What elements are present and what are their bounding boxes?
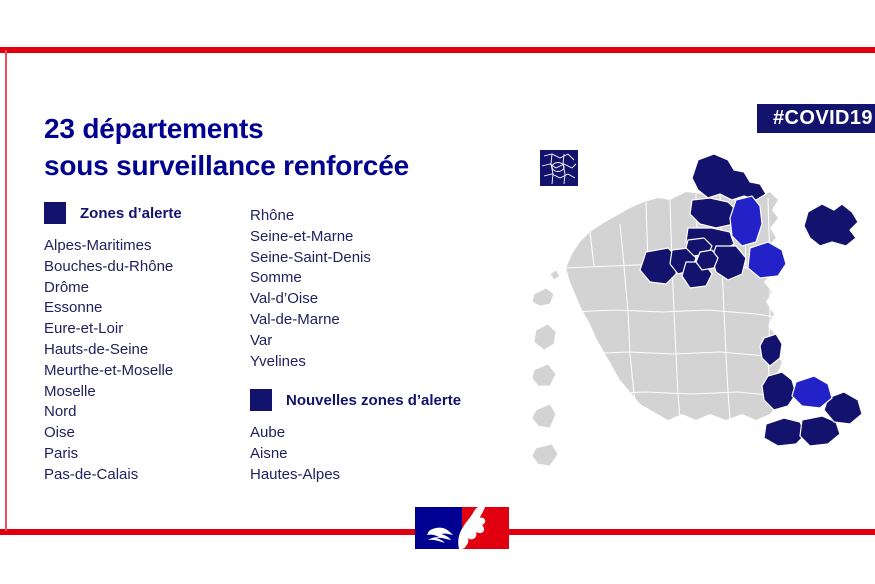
department-name: Var [250,331,371,352]
department-name: Drôme [44,278,173,299]
new-alert-swatch-icon [250,389,272,411]
department-name: Val-de-Marne [250,310,371,331]
covid19-hashtag-badge: #COVID19 [757,104,875,133]
alert-departments-column-1: Alpes-MaritimesBouches-du-RhôneDrômeEsso… [44,236,173,486]
infographic-canvas: #COVID19 23 départements sous surveillan… [0,0,875,584]
department-name: Eure-et-Loir [44,319,173,340]
legend-new-alert-label: Nouvelles zones d’alerte [286,392,461,409]
department-name: Essonne [44,298,173,319]
page-title: 23 départements sous surveillance renfor… [44,110,514,184]
legend-alert-label: Zones d’alerte [80,205,182,222]
dept-aube [748,242,786,278]
covid19-badge-label: #COVID19 [773,107,873,130]
top-red-rule [0,47,875,53]
department-name: Nord [44,402,173,423]
department-name: Oise [44,423,173,444]
page-title-line1: 23 départements [44,113,264,144]
new-alert-departments-list: AubeAisneHautes-Alpes [250,423,340,485]
dept-petite-couronne [696,250,718,270]
department-name: Val-d’Oise [250,289,371,310]
legend-alert-zones: Zones d’alerte [44,202,182,224]
page-title-line2: sous surveillance renforcée [44,147,514,184]
department-name: Rhône [250,206,371,227]
france-departments-map [520,142,875,480]
dept-moselle-meurthe [804,204,858,246]
marianne-french-republic-logo [415,507,509,549]
department-name: Alpes-Maritimes [44,236,173,257]
alert-departments-column-2: RhôneSeine-et-MarneSeine-Saint-DenisSomm… [250,206,371,372]
department-name: Hauts-de-Seine [44,340,173,361]
map-overseas-territories [532,270,560,466]
paris-region-inset [540,150,578,186]
department-name: Aube [250,423,340,444]
department-name: Seine-et-Marne [250,227,371,248]
department-name: Meurthe-et-Moselle [44,361,173,382]
dept-bouches-du-rhone [764,418,806,446]
department-name: Moselle [44,382,173,403]
department-name: Aisne [250,444,340,465]
left-red-rule [5,50,7,531]
dept-aisne [730,196,762,246]
department-name: Hautes-Alpes [250,465,340,486]
dept-hautes-alpes [792,376,832,408]
department-name: Paris [44,444,173,465]
department-name: Yvelines [250,352,371,373]
legend-new-alert-zones: Nouvelles zones d’alerte [250,389,461,411]
department-name: Seine-Saint-Denis [250,248,371,269]
dept-nord-pas-de-calais [692,154,766,200]
alert-swatch-icon [44,202,66,224]
department-name: Bouches-du-Rhône [44,257,173,278]
department-name: Somme [250,268,371,289]
department-name: Pas-de-Calais [44,465,173,486]
